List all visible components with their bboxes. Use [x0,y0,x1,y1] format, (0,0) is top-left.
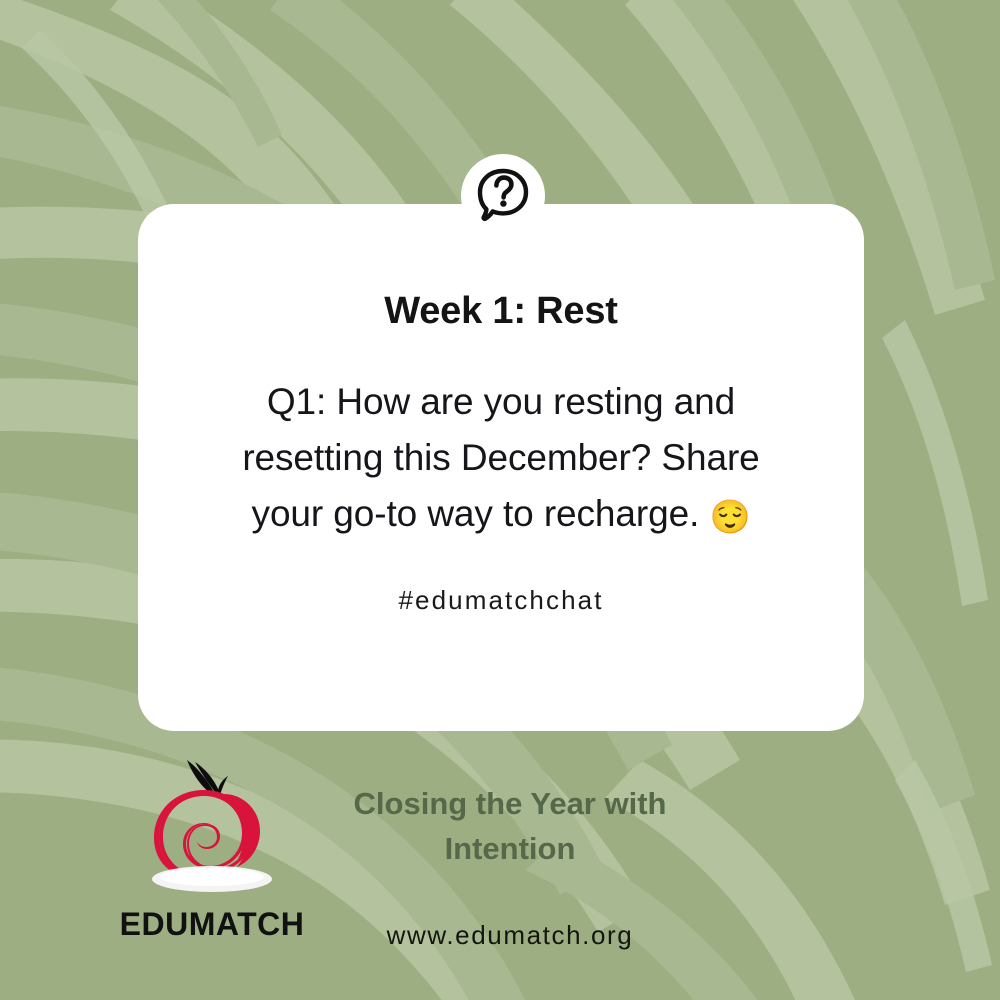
card-question: Q1: How are you resting and resetting th… [211,374,791,543]
campaign-title: Closing the Year with Intention [310,782,710,872]
edumatch-apple-swirl-logo [132,752,292,904]
question-badge [461,154,545,238]
poster-canvas: Week 1: Rest Q1: How are you resting and… [0,0,1000,1000]
question-text: Q1: How are you resting and resetting th… [242,381,759,534]
card-hashtag: #edumatchchat [398,585,603,616]
site-url[interactable]: www.edumatch.org [300,920,720,951]
prompt-card: Week 1: Rest Q1: How are you resting and… [138,204,864,731]
card-title: Week 1: Rest [384,292,617,330]
question-speech-bubble-icon [474,167,532,225]
brand-wordmark: EDUMATCH [120,906,305,943]
relieved-face-emoji: 😌 [709,498,750,535]
brand-block: EDUMATCH [112,752,312,943]
